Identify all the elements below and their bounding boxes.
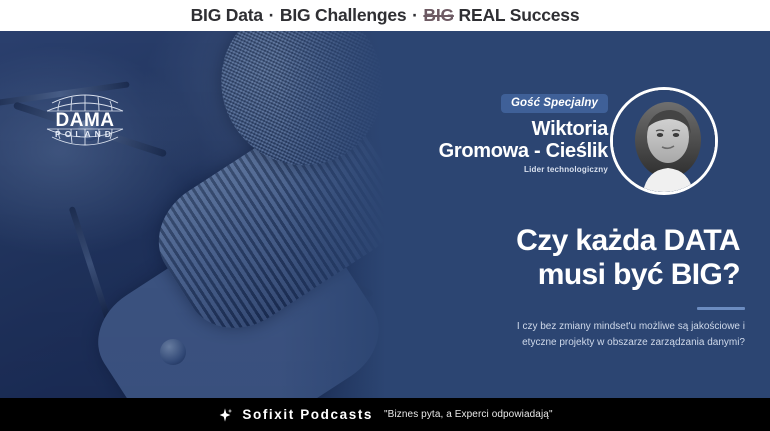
slide-subtitle: I czy bez zmiany mindset'u możliwe są ja…: [505, 319, 745, 350]
speaker-info: Gość Specjalny Wiktoria Gromowa - Cieśli…: [278, 93, 608, 174]
title-line-2: musi być BIG?: [320, 258, 740, 292]
header-separator-1: ·: [263, 5, 280, 25]
accent-divider: [697, 307, 745, 310]
top-header-banner: BIG Data · BIG Challenges · BIG REAL Suc…: [0, 0, 770, 31]
footer-brand: Sofixit Podcasts: [242, 407, 373, 422]
speaker-name-line-2: Gromowa - Cieślik: [278, 141, 608, 163]
slide-stage: DAMA POLAND Gość Specjalny Wiktoria Grom…: [0, 31, 770, 398]
header-separator-2: ·: [406, 5, 423, 25]
header-part-1: BIG Data: [191, 5, 263, 25]
speaker-role: Lider technologiczny: [278, 165, 608, 174]
portrait-figure: [613, 90, 715, 192]
header-tagline: BIG Data · BIG Challenges · BIG REAL Suc…: [191, 5, 580, 26]
header-struck-word: BIG: [423, 5, 454, 25]
title-line-1: Czy każda DATA: [320, 224, 740, 258]
presentation-slide: BIG Data · BIG Challenges · BIG REAL Suc…: [0, 0, 770, 431]
photo-fade-edge: [280, 31, 400, 398]
logo-country: POLAND: [55, 129, 115, 139]
logo-name: DAMA: [56, 110, 115, 131]
speaker-avatar: [610, 87, 718, 195]
dama-poland-logo: DAMA POLAND: [30, 81, 140, 159]
footer-tagline: "Biznes pyta, a Experci odpowiadają": [384, 409, 553, 420]
footer-bar: Sofixit Podcasts "Biznes pyta, a Experci…: [0, 398, 770, 431]
slide-title: Czy każda DATA musi być BIG?: [320, 224, 740, 292]
speaker-name: Wiktoria Gromowa - Cieślik: [278, 119, 608, 162]
header-part-2: BIG Challenges: [280, 5, 407, 25]
guest-badge: Gość Specjalny: [501, 94, 608, 113]
sparkle-icon: [217, 407, 233, 423]
speaker-name-line-1: Wiktoria: [278, 119, 608, 141]
header-part-3: REAL Success: [454, 5, 579, 25]
globe-icon: DAMA POLAND: [30, 81, 140, 159]
